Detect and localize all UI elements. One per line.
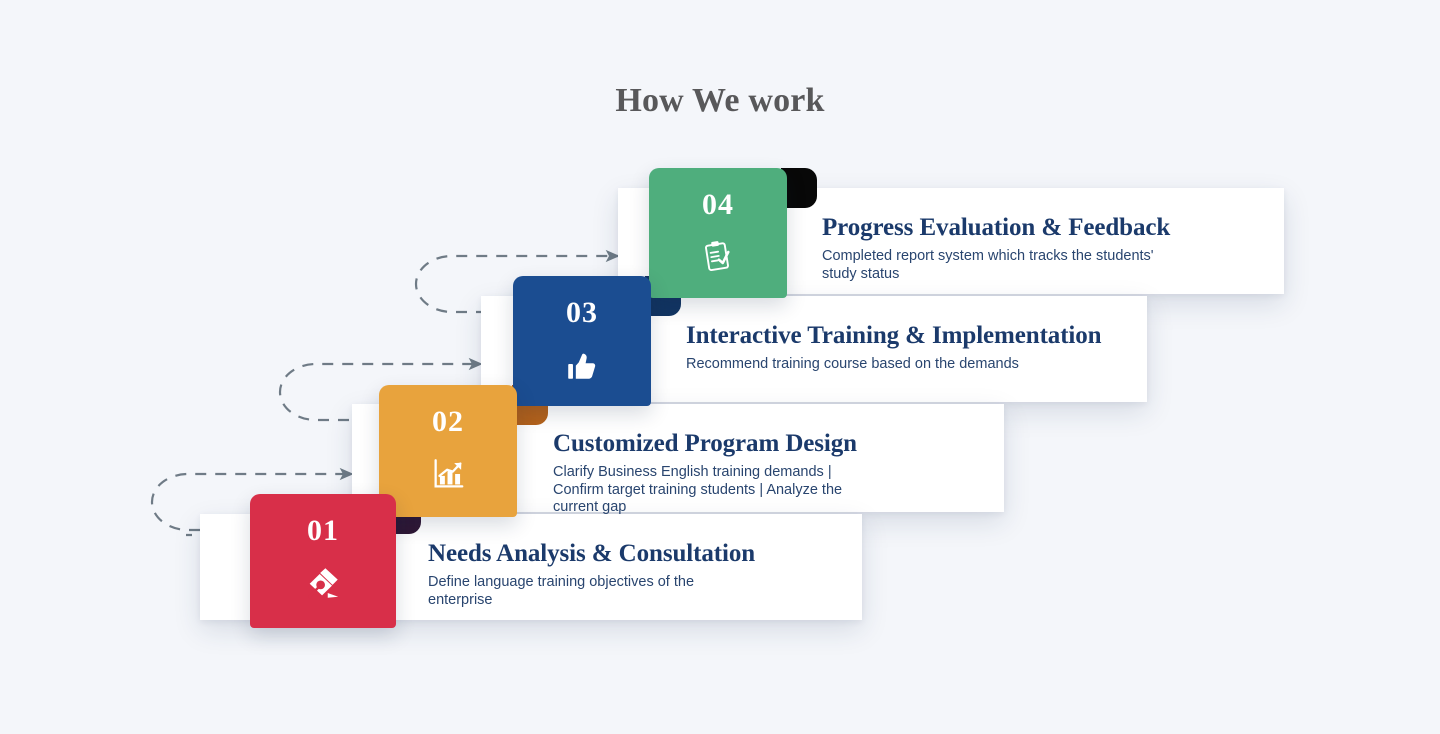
- step-01-badge[interactable]: 01: [250, 494, 396, 628]
- clipboard-check-icon: [699, 238, 737, 276]
- step-03-text: Interactive Training & Implementation Re…: [686, 322, 1101, 374]
- step-04-text: Progress Evaluation & Feedback Completed…: [822, 214, 1170, 283]
- step-02-number: 02: [432, 407, 464, 437]
- step-02-text: Customized Program Design Clarify Busine…: [553, 430, 857, 517]
- growth-bar-chart-icon: [429, 455, 467, 493]
- step-01-description: Define language training objectives of t…: [428, 574, 755, 609]
- step-03-heading: Interactive Training & Implementation: [686, 322, 1101, 350]
- step-04-heading: Progress Evaluation & Feedback: [822, 214, 1170, 242]
- step-02-heading: Customized Program Design: [553, 430, 857, 458]
- infographic-canvas: How We work 04: [0, 0, 1440, 734]
- step-04-number: 04: [702, 190, 734, 220]
- step-01-heading: Needs Analysis & Consultation: [428, 540, 755, 568]
- step-04-badge[interactable]: 04: [649, 168, 787, 298]
- page-title: How We work: [0, 82, 1440, 120]
- step-04-description: Completed report system which tracks the…: [822, 248, 1170, 283]
- pen-nib-icon: [304, 564, 342, 602]
- step-01-text: Needs Analysis & Consultation Define lan…: [428, 540, 755, 609]
- step-03-badge[interactable]: 03: [513, 276, 651, 406]
- step-01-number: 01: [307, 516, 339, 546]
- step-02-description: Clarify Business English training demand…: [553, 464, 857, 517]
- step-03-number: 03: [566, 298, 598, 328]
- step-02-badge[interactable]: 02: [379, 385, 517, 517]
- thumbs-up-icon: [563, 346, 601, 384]
- step-03-description: Recommend training course based on the d…: [686, 356, 1101, 374]
